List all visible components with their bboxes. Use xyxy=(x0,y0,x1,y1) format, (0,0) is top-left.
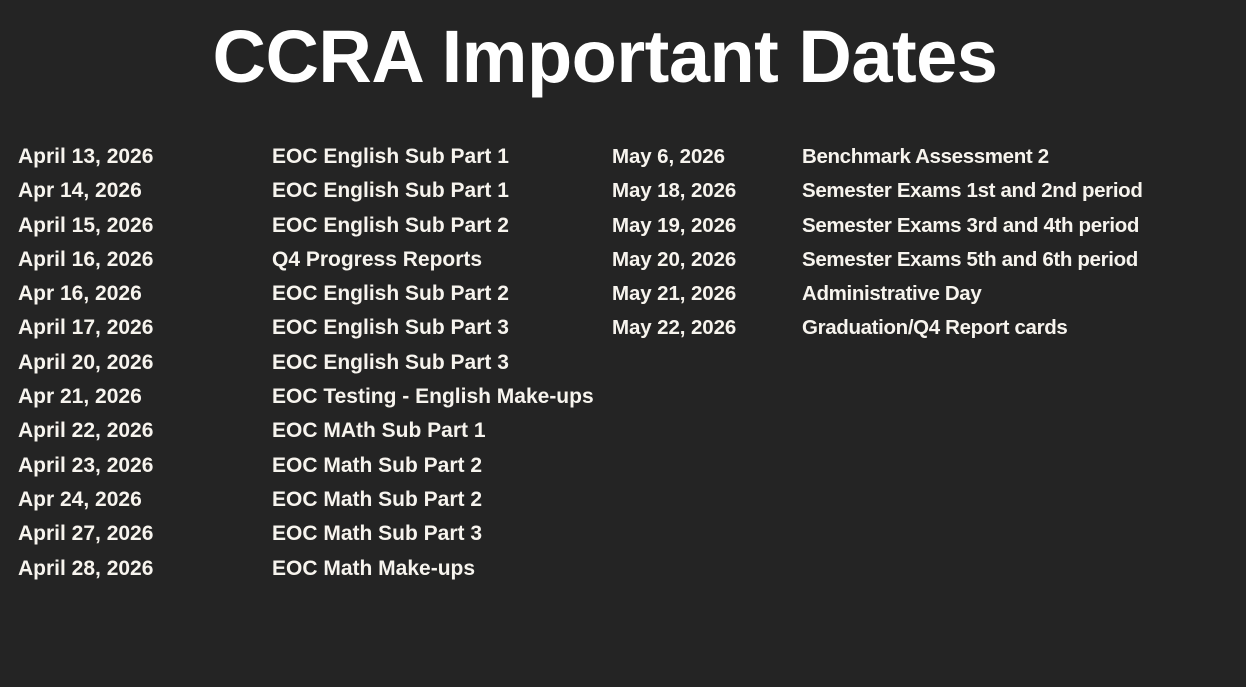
left-date-cell-8: April 22, 2026 xyxy=(18,414,268,448)
left-event-cell-10: EOC Math Sub Part 2 xyxy=(272,483,608,517)
left-event-cell-5: EOC English Sub Part 3 xyxy=(272,311,608,345)
right-event-cell-2: Semester Exams 3rd and 4th period xyxy=(802,209,1242,243)
left-event-cell-7: EOC Testing - English Make-ups xyxy=(272,380,608,414)
left-date-cell-1: Apr 14, 2026 xyxy=(18,174,268,208)
right-date-column: May 6, 2026May 18, 2026May 19, 2026May 2… xyxy=(612,140,798,346)
left-event-cell-3: Q4 Progress Reports xyxy=(272,243,608,277)
left-date-cell-9: April 23, 2026 xyxy=(18,449,268,483)
left-event-cell-2: EOC English Sub Part 2 xyxy=(272,209,608,243)
right-event-cell-0: Benchmark Assessment 2 xyxy=(802,140,1242,174)
left-event-cell-0: EOC English Sub Part 1 xyxy=(272,140,608,174)
right-date-cell-2: May 19, 2026 xyxy=(612,209,798,243)
left-date-cell-2: April 15, 2026 xyxy=(18,209,268,243)
left-event-cell-4: EOC English Sub Part 2 xyxy=(272,277,608,311)
right-date-cell-3: May 20, 2026 xyxy=(612,243,798,277)
slide-canvas: CCRA Important Dates April 13, 2026Apr 1… xyxy=(0,0,1246,687)
right-event-cell-4: Administrative Day xyxy=(802,277,1242,311)
left-date-cell-10: Apr 24, 2026 xyxy=(18,483,268,517)
left-event-cell-8: EOC MAth Sub Part 1 xyxy=(272,414,608,448)
left-event-cell-11: EOC Math Sub Part 3 xyxy=(272,517,608,551)
left-date-cell-4: Apr 16, 2026 xyxy=(18,277,268,311)
page-title: CCRA Important Dates xyxy=(0,14,1210,100)
left-event-column: EOC English Sub Part 1EOC English Sub Pa… xyxy=(272,140,608,586)
left-date-cell-7: Apr 21, 2026 xyxy=(18,380,268,414)
left-date-cell-5: April 17, 2026 xyxy=(18,311,268,345)
left-date-column: April 13, 2026Apr 14, 2026April 15, 2026… xyxy=(18,140,268,586)
right-event-column: Benchmark Assessment 2Semester Exams 1st… xyxy=(802,140,1242,346)
left-event-cell-9: EOC Math Sub Part 2 xyxy=(272,449,608,483)
left-event-cell-6: EOC English Sub Part 3 xyxy=(272,346,608,380)
right-date-cell-5: May 22, 2026 xyxy=(612,311,798,345)
right-date-cell-1: May 18, 2026 xyxy=(612,174,798,208)
right-date-cell-0: May 6, 2026 xyxy=(612,140,798,174)
right-event-cell-5: Graduation/Q4 Report cards xyxy=(802,311,1242,345)
left-date-cell-12: April 28, 2026 xyxy=(18,552,268,586)
left-date-cell-6: April 20, 2026 xyxy=(18,346,268,380)
right-date-cell-4: May 21, 2026 xyxy=(612,277,798,311)
left-date-cell-0: April 13, 2026 xyxy=(18,140,268,174)
left-date-cell-11: April 27, 2026 xyxy=(18,517,268,551)
schedule-table: April 13, 2026Apr 14, 2026April 15, 2026… xyxy=(0,140,1246,600)
left-event-cell-12: EOC Math Make-ups xyxy=(272,552,608,586)
right-event-cell-1: Semester Exams 1st and 2nd period xyxy=(802,174,1242,208)
left-event-cell-1: EOC English Sub Part 1 xyxy=(272,174,608,208)
left-date-cell-3: April 16, 2026 xyxy=(18,243,268,277)
right-event-cell-3: Semester Exams 5th and 6th period xyxy=(802,243,1242,277)
